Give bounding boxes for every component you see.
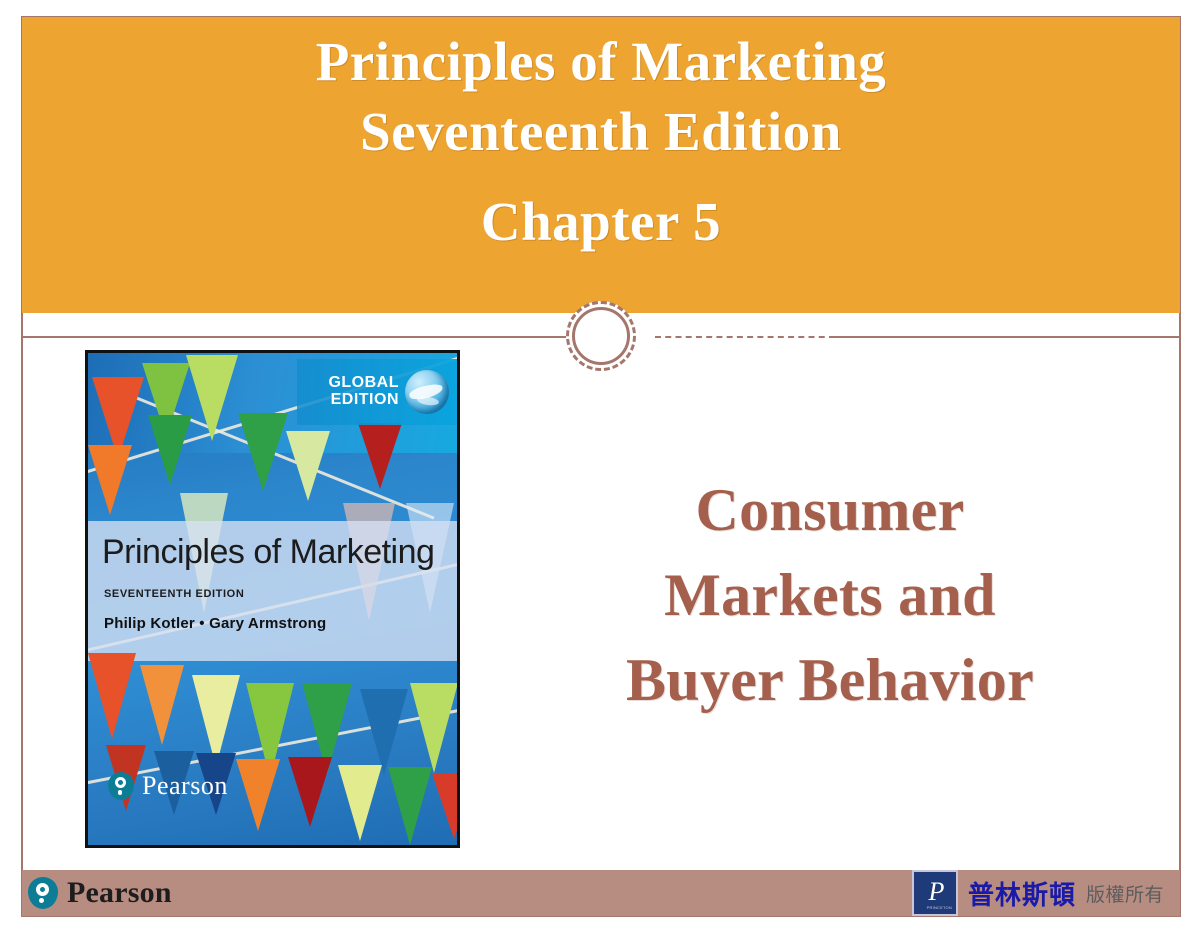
princeton-chinese-name: 普林斯頓	[968, 875, 1076, 912]
bunting-flag	[338, 765, 382, 841]
divider-line-right	[834, 336, 1180, 338]
global-edition-line-2: EDITION	[328, 392, 399, 409]
chapter-label: Chapter 5	[481, 190, 721, 253]
bunting-flag	[388, 767, 432, 845]
bunting-flag	[88, 653, 136, 739]
page-title-line-1: Consumer	[500, 468, 1160, 553]
bunting-flag	[288, 757, 332, 827]
princeton-logo-subtext: PRINCETON	[927, 905, 952, 910]
bunting-flag	[140, 665, 184, 745]
footer-princeton-block: P PRINCETON 普林斯頓 版權所有	[912, 870, 1164, 916]
global-edition-text: GLOBAL EDITION	[328, 375, 399, 409]
bunting-flag	[432, 773, 460, 839]
header-text-wrap: Principles of Marketing Seventeenth Edit…	[22, 17, 1180, 313]
princeton-monogram: P	[929, 879, 942, 905]
divider-line-left	[22, 336, 567, 338]
copyright-chinese-text: 版權所有	[1086, 880, 1164, 907]
globe-icon	[405, 370, 449, 414]
cover-pearson-wordmark: Pearson	[142, 771, 228, 801]
bunting-flag	[236, 759, 280, 831]
page-title-line-2: Markets and	[500, 553, 1160, 638]
bunting-flag	[88, 445, 132, 515]
pearson-p-icon	[28, 877, 58, 909]
bunting-flag	[148, 415, 192, 485]
footer-bar: Pearson P PRINCETON 普林斯頓 版權所有	[22, 870, 1180, 916]
book-title-line-1: Principles of Marketing	[316, 27, 887, 97]
pearson-p-icon	[108, 772, 134, 800]
cover-title: Principles of Marketing	[102, 533, 434, 572]
bunting-flag	[410, 683, 458, 773]
slide-root: Principles of Marketing Seventeenth Edit…	[0, 0, 1200, 933]
divider-line-dashed	[655, 336, 835, 338]
book-cover-image: GLOBAL EDITION Principles of Marketing S…	[85, 350, 460, 848]
bunting-flag	[186, 355, 238, 441]
bunting-flag	[358, 423, 402, 489]
cover-pearson-logo: Pearson	[108, 771, 228, 801]
cover-authors: Philip Kotler • Gary Armstrong	[104, 615, 326, 632]
divider-circle-icon	[566, 301, 636, 371]
bunting-flag	[238, 413, 288, 491]
bunting-flag	[286, 431, 330, 501]
circle-inner-ring	[572, 307, 630, 365]
header-band: Principles of Marketing Seventeenth Edit…	[22, 17, 1180, 313]
global-edition-band: GLOBAL EDITION	[297, 359, 457, 425]
princeton-logo-icon: P PRINCETON	[912, 870, 958, 916]
footer-pearson-logo: Pearson	[28, 876, 172, 910]
page-title-line-3: Buyer Behavior	[500, 638, 1160, 723]
cover-edition: SEVENTEENTH EDITION	[104, 588, 244, 600]
footer-pearson-wordmark: Pearson	[67, 876, 172, 910]
global-edition-line-1: GLOBAL	[328, 375, 399, 392]
page-title: Consumer Markets and Buyer Behavior	[500, 468, 1160, 724]
bunting-flag	[360, 689, 408, 775]
book-title-line-2: Seventeenth Edition	[316, 97, 887, 167]
book-title: Principles of Marketing Seventeenth Edit…	[316, 27, 887, 168]
